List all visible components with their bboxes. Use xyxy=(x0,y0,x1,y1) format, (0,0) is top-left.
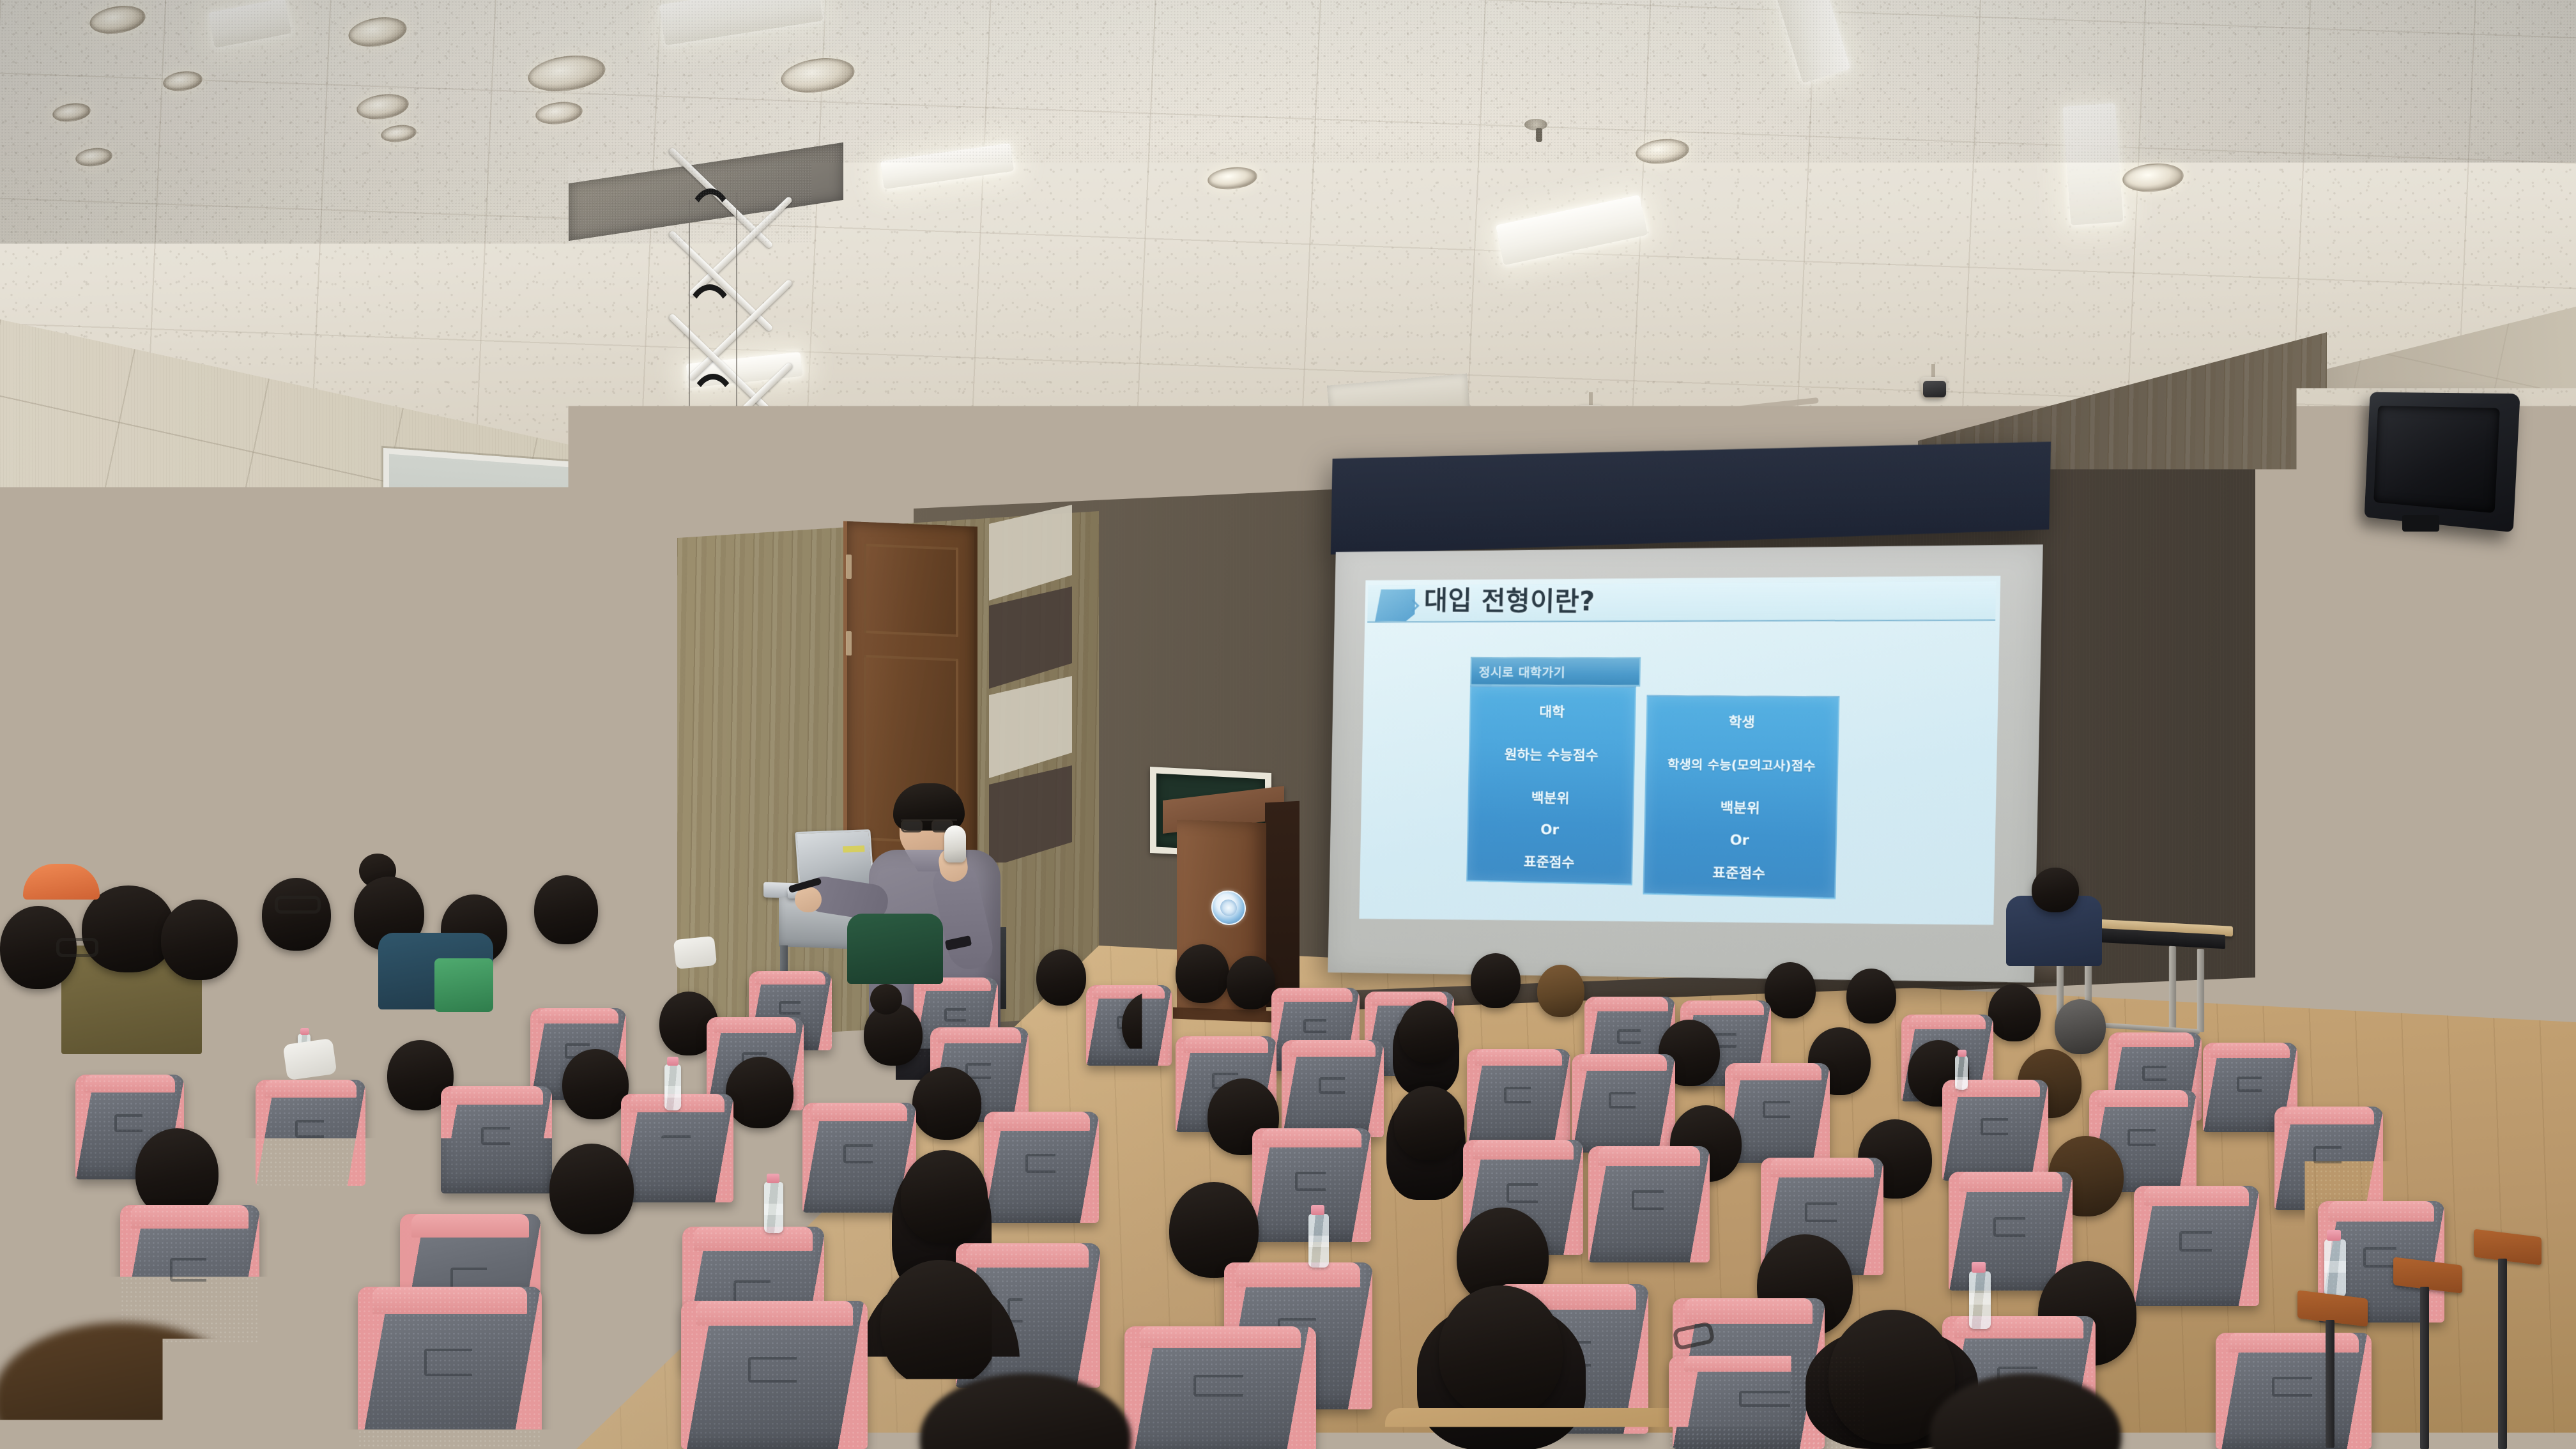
audience-head xyxy=(534,875,598,944)
projector-cable xyxy=(687,374,739,457)
auditorium-seat[interactable] xyxy=(1282,1040,1384,1137)
fluorescent-light xyxy=(2063,103,2124,225)
track-light xyxy=(1283,422,1308,457)
green-bag xyxy=(434,958,493,1012)
door-hinge xyxy=(846,631,852,655)
audience-head xyxy=(262,878,331,951)
audience-head xyxy=(1394,1086,1464,1160)
door-panel xyxy=(864,544,958,637)
window-pane-upper xyxy=(389,572,569,746)
auditorium-seat[interactable] xyxy=(2216,1333,2372,1449)
slide-subtitle-bar: 정시로 대학가기 xyxy=(1470,657,1641,687)
microphone-stand xyxy=(546,813,548,849)
eyeglasses xyxy=(56,938,98,957)
auditorium-seat[interactable] xyxy=(441,1086,552,1193)
column-line: 표준점수 xyxy=(1712,862,1765,883)
slide-column-university: 대학 원하는 수능점수 백분위 Or 표준점수 xyxy=(1466,686,1636,885)
auditorium-seat[interactable] xyxy=(2134,1186,2259,1306)
auditorium-seat[interactable] xyxy=(2274,1107,2383,1210)
security-camera xyxy=(1923,381,1946,397)
water-bottle[interactable] xyxy=(1308,1214,1329,1268)
face-mask xyxy=(282,1038,337,1080)
column-line: Or xyxy=(1540,822,1560,838)
column-line: 백분위 xyxy=(1720,797,1760,818)
speaker-grille xyxy=(2373,406,2500,513)
speaker-bracket xyxy=(2402,515,2439,532)
auditorium-seat[interactable] xyxy=(256,1080,365,1186)
armrest-leg xyxy=(2326,1320,2334,1448)
folder xyxy=(631,822,663,855)
audience-head xyxy=(2032,868,2079,912)
column-line: 백분위 xyxy=(1531,788,1569,808)
audience-head xyxy=(1036,949,1086,1006)
auditorium-seat[interactable] xyxy=(984,1112,1099,1223)
desk-leg xyxy=(2197,949,2204,1032)
slide-title: 대입 전형이란? xyxy=(1423,579,1595,618)
auditorium-seat[interactable] xyxy=(1949,1172,2073,1291)
audience-clothing xyxy=(1385,1408,1705,1449)
screen-valance xyxy=(1331,441,2051,556)
sprinkler-head xyxy=(1536,128,1542,142)
audience-head xyxy=(880,1260,999,1388)
water-bottle[interactable] xyxy=(764,1182,783,1233)
audience-head xyxy=(1988,984,2041,1041)
audience-head xyxy=(1765,962,1816,1018)
projection-screen-assembly: 대입 전형이란? 정시로 대학가기 대학 원하는 수능점수 백분위 Or 표준점… xyxy=(1322,441,2051,1017)
armrest-leg xyxy=(2420,1287,2429,1449)
auditorium-photo: 대입 전형이란? 정시로 대학가기 대학 원하는 수능점수 백분위 Or 표준점… xyxy=(0,0,2576,1449)
slide-column-student: 학생 학생의 수능(모의고사)점수 백분위 Or 표준점수 xyxy=(1643,695,1839,899)
table-leg xyxy=(652,860,657,927)
column-heading: 학생 xyxy=(1728,712,1755,732)
eyeglasses xyxy=(275,896,321,914)
face-mask xyxy=(673,936,717,969)
audience-head xyxy=(1227,956,1275,1009)
audience-head xyxy=(1471,953,1521,1008)
auditorium-seat[interactable] xyxy=(1942,1080,2048,1181)
column-line: 학생의 수능(모의고사)점수 xyxy=(1667,755,1816,774)
auditorium-seat[interactable] xyxy=(1467,1049,1570,1147)
projector-cable xyxy=(685,188,736,284)
auditorium-seat[interactable] xyxy=(358,1287,542,1449)
track-light xyxy=(1018,447,1044,483)
desk-leg xyxy=(2169,946,2176,1031)
school-crest-emblem xyxy=(1211,890,1246,926)
projector-cable xyxy=(682,284,737,380)
hair-bun xyxy=(870,984,902,1015)
water-bottle[interactable] xyxy=(1955,1055,1968,1090)
framed-board xyxy=(2267,811,2320,924)
water-bottle[interactable] xyxy=(2324,1239,2346,1297)
audience-head xyxy=(562,1049,629,1119)
water-bottle[interactable] xyxy=(1969,1271,1991,1329)
projected-slide: 대입 전형이란? 정시로 대학가기 대학 원하는 수능점수 백분위 Or 표준점… xyxy=(1359,572,2000,944)
audience-head xyxy=(1846,969,1896,1023)
audience-head xyxy=(135,1128,218,1218)
roller-blind[interactable] xyxy=(389,454,569,586)
auditorium-seat[interactable] xyxy=(681,1301,868,1449)
audience-head xyxy=(901,1150,988,1243)
audience-clothing xyxy=(847,914,943,984)
auditorium-seat[interactable] xyxy=(1669,1356,1864,1449)
audience-head xyxy=(912,1067,981,1140)
column-heading: 대학 xyxy=(1539,701,1565,721)
audience-head xyxy=(161,900,238,980)
audience-head xyxy=(1537,965,1584,1017)
microphone-head-icon xyxy=(540,808,553,818)
handheld-microphone[interactable] xyxy=(944,825,966,862)
audience-head xyxy=(726,1057,793,1128)
column-line: Or xyxy=(1729,832,1749,848)
audience-head xyxy=(1399,1000,1458,1063)
water-bottle[interactable] xyxy=(664,1064,681,1110)
slide-subtitle: 정시로 대학가기 xyxy=(1478,663,1565,680)
paper-cup xyxy=(602,836,616,852)
auditorium-seat[interactable] xyxy=(1588,1146,1710,1262)
building-across xyxy=(527,595,572,726)
column-line: 표준점수 xyxy=(1524,851,1575,871)
audience-head xyxy=(2055,999,2106,1054)
auditorium-seat[interactable] xyxy=(1572,1054,1675,1153)
auditorium-seat[interactable] xyxy=(1124,1326,1316,1449)
column-line: 원하는 수능점수 xyxy=(1504,744,1598,765)
audience-head xyxy=(1176,944,1229,1003)
window xyxy=(383,448,575,794)
audience-head xyxy=(549,1144,634,1234)
door-hinge xyxy=(846,555,852,579)
track-light xyxy=(1578,392,1604,428)
armrest-leg xyxy=(2498,1259,2507,1449)
audience-head xyxy=(1439,1285,1563,1417)
audience-head xyxy=(1122,992,1183,1058)
right-wall-speaker xyxy=(2365,392,2520,532)
